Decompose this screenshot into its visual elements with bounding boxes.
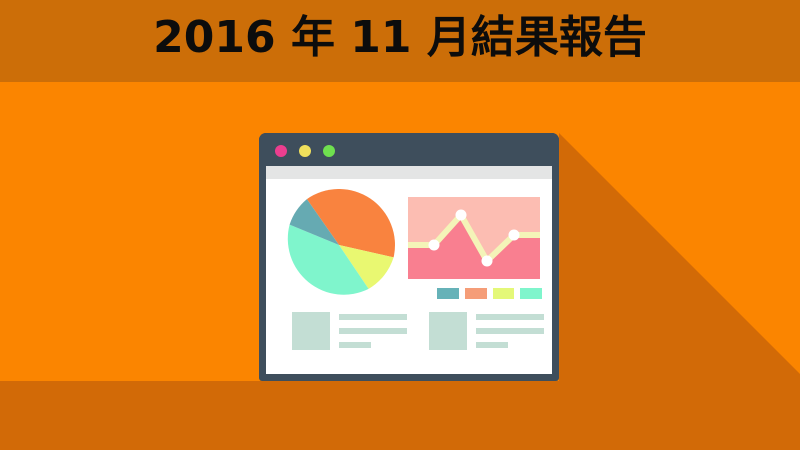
content-text-lines	[339, 312, 407, 362]
area-chart-marker	[456, 210, 467, 221]
legend-swatch-series-2	[465, 288, 487, 299]
content-block	[292, 312, 407, 362]
content-text-lines	[476, 312, 544, 362]
content-text-line	[339, 328, 407, 334]
page-title: 2016 年 11 月結果報告	[0, 0, 800, 82]
content-thumbnail	[429, 312, 467, 350]
browser-title-bar	[259, 133, 559, 166]
slide-canvas: 2016 年 11 月結果報告	[0, 0, 800, 450]
content-text-line	[476, 342, 508, 348]
content-block	[429, 312, 544, 362]
chart-legend	[437, 288, 542, 299]
legend-swatch-series-1	[437, 288, 459, 299]
content-blocks	[292, 312, 542, 362]
legend-swatch-series-3	[493, 288, 515, 299]
maximize-dot-icon[interactable]	[323, 145, 335, 157]
close-dot-icon[interactable]	[275, 145, 287, 157]
content-text-line	[476, 328, 544, 334]
content-text-line	[339, 342, 371, 348]
browser-content-area	[266, 179, 552, 374]
browser-toolbar-strip	[266, 166, 552, 179]
area-chart-marker	[482, 256, 493, 267]
content-thumbnail	[292, 312, 330, 350]
content-text-line	[476, 314, 544, 320]
pie-chart	[283, 189, 395, 301]
area-chart-marker	[509, 230, 520, 241]
browser-window-illustration	[259, 133, 559, 381]
header-band: 2016 年 11 月結果報告	[0, 0, 800, 82]
content-text-line	[339, 314, 407, 320]
legend-swatch-series-4	[520, 288, 542, 299]
area-chart-marker	[429, 240, 440, 251]
minimize-dot-icon[interactable]	[299, 145, 311, 157]
area-chart	[408, 197, 540, 279]
